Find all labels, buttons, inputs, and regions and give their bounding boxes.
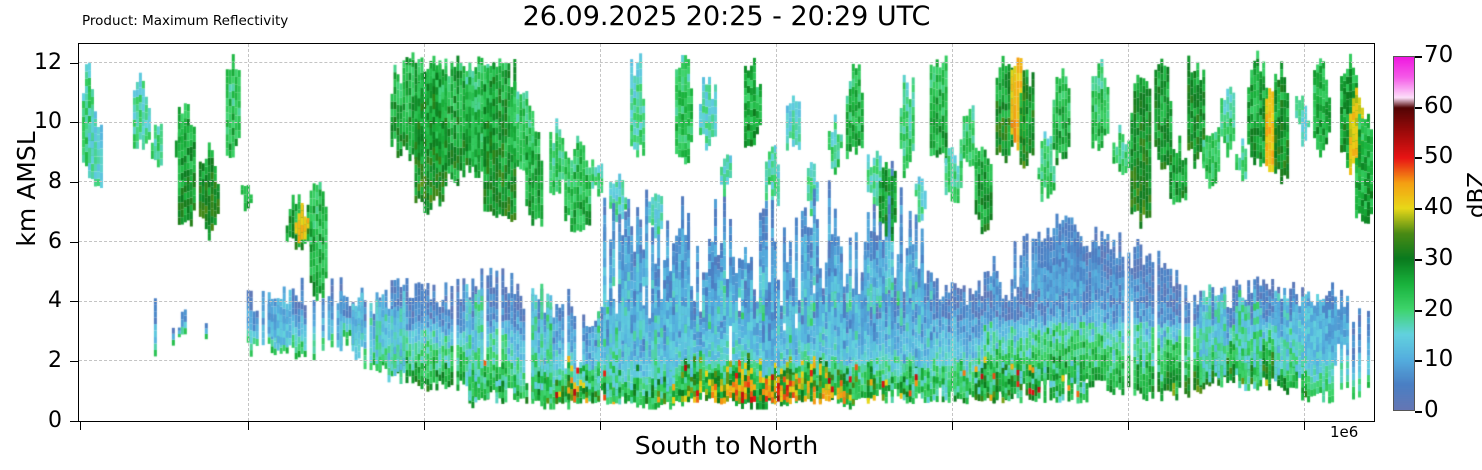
plot-area (78, 43, 1375, 422)
x-tick-mark-3 (600, 422, 601, 430)
x-axis-exponent-label: 1e6 (1330, 424, 1358, 441)
y-tick-label-10: 10 (0, 110, 62, 134)
reflectivity-heatmap (79, 44, 1373, 420)
y-tick-mark-8 (70, 182, 78, 183)
x-tick-mark-6 (1128, 422, 1129, 430)
x-tick-mark-5 (952, 422, 953, 430)
colorbar-tick-mark-0 (1415, 411, 1422, 413)
x-tick-mark-2 (424, 422, 425, 430)
y-tick-mark-12 (70, 63, 78, 64)
colorbar-tick-label-50: 50 (1424, 144, 1453, 169)
colorbar-tick-mark-30 (1415, 259, 1422, 261)
radar-cross-section-figure: 26.09.2025 20:25 - 20:29 UTC Product: Ma… (0, 0, 1482, 470)
colorbar-tick-mark-10 (1415, 360, 1422, 362)
y-tick-label-0: 0 (0, 409, 62, 433)
y-tick-label-12: 12 (0, 51, 62, 75)
colorbar-label: dBZ (1464, 135, 1482, 255)
y-tick-label-4: 4 (0, 289, 62, 313)
y-tick-label-8: 8 (0, 170, 62, 194)
colorbar-tick-label-20: 20 (1424, 297, 1453, 322)
y-tick-label-6: 6 (0, 230, 62, 254)
colorbar-tick-mark-20 (1415, 310, 1422, 312)
y-tick-mark-4 (70, 301, 78, 302)
colorbar-tick-mark-50 (1415, 157, 1422, 159)
colorbar (1393, 56, 1415, 411)
y-tick-mark-0 (70, 421, 78, 422)
colorbar-tick-mark-70 (1415, 56, 1422, 58)
y-tick-mark-10 (70, 122, 78, 123)
y-tick-label-2: 2 (0, 349, 62, 373)
y-tick-mark-2 (70, 361, 78, 362)
y-tick-mark-6 (70, 242, 78, 243)
x-tick-mark-7 (1304, 422, 1305, 430)
colorbar-tick-label-70: 70 (1424, 43, 1453, 68)
colorbar-tick-label-30: 30 (1424, 246, 1453, 271)
colorbar-tick-label-40: 40 (1424, 195, 1453, 220)
colorbar-gradient (1394, 57, 1414, 410)
x-axis-label: South to North (78, 432, 1375, 460)
x-tick-mark-0 (80, 422, 81, 430)
colorbar-tick-mark-40 (1415, 208, 1422, 210)
colorbar-tick-mark-60 (1415, 107, 1422, 109)
x-tick-mark-4 (776, 422, 777, 430)
colorbar-tick-label-60: 60 (1424, 94, 1453, 119)
colorbar-tick-label-10: 10 (1424, 347, 1453, 372)
x-tick-mark-1 (248, 422, 249, 430)
product-label: Product: Maximum Reflectivity (82, 14, 288, 29)
colorbar-tick-label-0: 0 (1424, 398, 1439, 423)
